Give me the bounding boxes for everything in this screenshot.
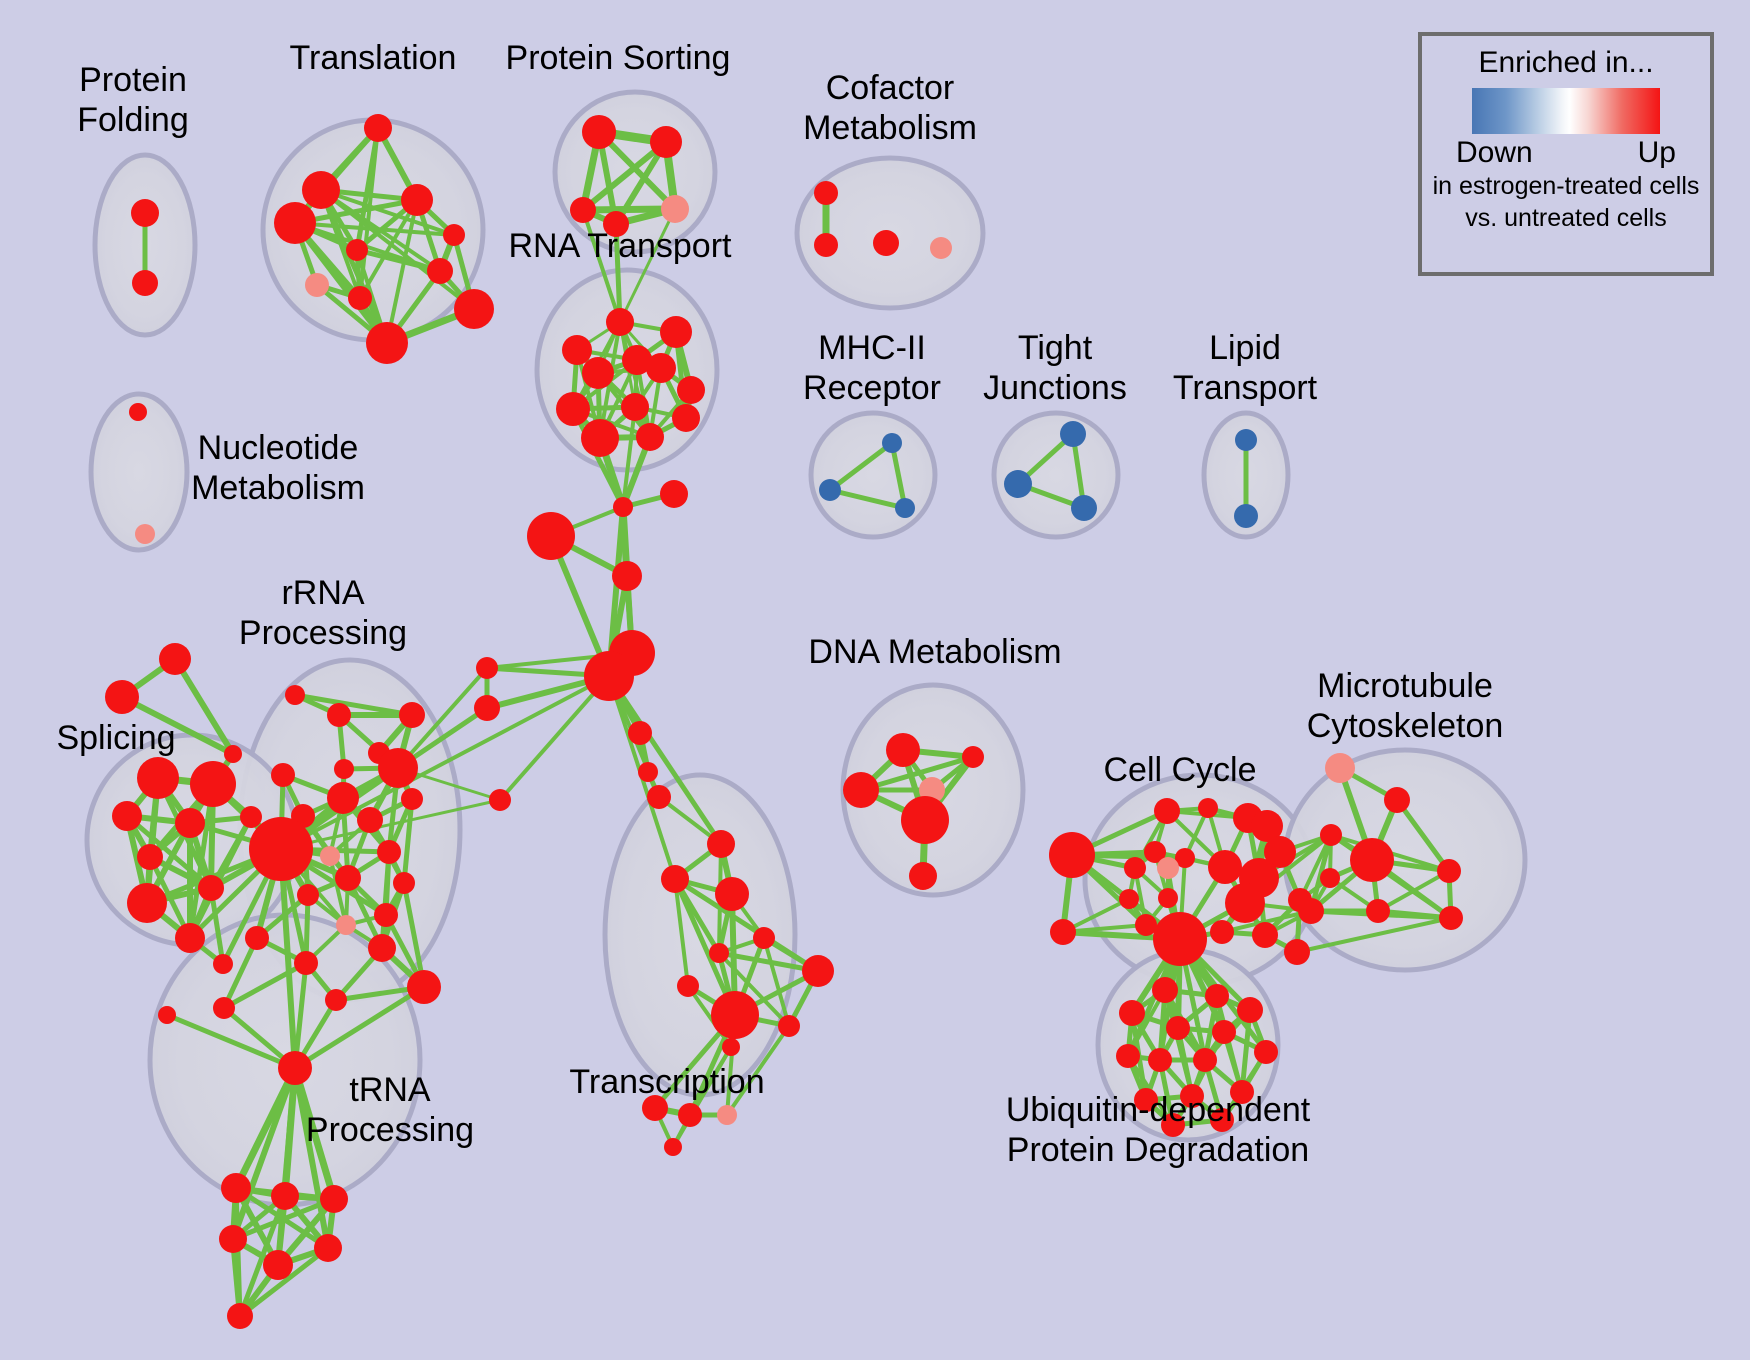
network-node[interactable]: [1119, 1000, 1145, 1026]
network-node[interactable]: [1148, 1048, 1172, 1072]
network-node[interactable]: [715, 877, 749, 911]
network-node[interactable]: [646, 353, 676, 383]
network-node[interactable]: [672, 404, 700, 432]
network-node[interactable]: [814, 181, 838, 205]
network-node[interactable]: [305, 273, 329, 297]
network-node[interactable]: [621, 393, 649, 421]
network-node[interactable]: [753, 927, 775, 949]
network-node[interactable]: [1134, 1088, 1158, 1112]
network-node[interactable]: [647, 785, 671, 809]
legend-high-label: Up: [1638, 136, 1676, 170]
network-node[interactable]: [294, 951, 318, 975]
network-node[interactable]: [1366, 899, 1390, 923]
network-node[interactable]: [374, 903, 398, 927]
network-node[interactable]: [1254, 1040, 1278, 1064]
network-node[interactable]: [240, 806, 262, 828]
network-node[interactable]: [131, 199, 159, 227]
network-node[interactable]: [650, 126, 682, 158]
network-node[interactable]: [175, 808, 205, 838]
network-node[interactable]: [325, 989, 347, 1011]
network-node[interactable]: [664, 1138, 682, 1156]
network-node[interactable]: [314, 1234, 342, 1262]
network-node[interactable]: [366, 322, 408, 364]
network-node[interactable]: [158, 1006, 176, 1024]
network-node[interactable]: [336, 915, 356, 935]
network-node[interactable]: [556, 392, 590, 426]
network-node[interactable]: [175, 923, 205, 953]
network-node[interactable]: [606, 308, 634, 336]
network-node[interactable]: [603, 211, 629, 237]
cluster-hull-mhc-ii-receptor: [811, 413, 935, 537]
network-node[interactable]: [638, 762, 658, 782]
network-node[interactable]: [407, 970, 441, 1004]
network-node[interactable]: [159, 643, 191, 675]
network-node[interactable]: [327, 703, 351, 727]
network-node[interactable]: [582, 357, 614, 389]
network-node[interactable]: [814, 233, 838, 257]
network-node[interactable]: [489, 789, 511, 811]
network-node[interactable]: [393, 872, 415, 894]
network-node[interactable]: [709, 943, 729, 963]
network-node[interactable]: [707, 830, 735, 858]
network-node[interactable]: [320, 1185, 348, 1213]
network-node[interactable]: [1116, 1044, 1140, 1068]
network-node[interactable]: [368, 934, 396, 962]
network-node[interactable]: [1153, 912, 1207, 966]
network-node[interactable]: [909, 862, 937, 890]
network-node[interactable]: [562, 335, 592, 365]
network-node[interactable]: [677, 975, 699, 997]
network-node[interactable]: [1198, 798, 1218, 818]
network-node[interactable]: [1124, 857, 1146, 879]
network-node[interactable]: [249, 817, 313, 881]
network-node[interactable]: [1350, 838, 1394, 882]
network-node[interactable]: [581, 419, 619, 457]
network-node[interactable]: [1325, 753, 1355, 783]
network-node[interactable]: [660, 480, 688, 508]
network-node[interactable]: [1193, 1048, 1217, 1072]
network-node[interactable]: [399, 702, 425, 728]
network-node[interactable]: [213, 997, 235, 1019]
network-node[interactable]: [843, 772, 879, 808]
network-node[interactable]: [245, 926, 269, 950]
network-node[interactable]: [717, 1105, 737, 1125]
network-node[interactable]: [198, 875, 224, 901]
network-node[interactable]: [263, 1250, 293, 1280]
network-node[interactable]: [1004, 470, 1032, 498]
network-node[interactable]: [661, 865, 689, 893]
network-node[interactable]: [1157, 857, 1179, 879]
network-node[interactable]: [1439, 906, 1463, 930]
network-node[interactable]: [213, 954, 233, 974]
network-node[interactable]: [335, 865, 361, 891]
network-node[interactable]: [1212, 1020, 1236, 1044]
network-node[interactable]: [1049, 832, 1095, 878]
network-node[interactable]: [613, 497, 633, 517]
network-node[interactable]: [778, 1015, 800, 1037]
network-node[interactable]: [636, 423, 664, 451]
network-node[interactable]: [819, 479, 841, 501]
network-node[interactable]: [1161, 1113, 1185, 1137]
network-node[interactable]: [570, 197, 596, 223]
network-node[interactable]: [1208, 850, 1242, 884]
network-node[interactable]: [129, 403, 147, 421]
network-node[interactable]: [962, 746, 984, 768]
network-node[interactable]: [1320, 824, 1342, 846]
network-node[interactable]: [1225, 883, 1265, 923]
network-node[interactable]: [348, 286, 372, 310]
network-node[interactable]: [137, 757, 179, 799]
network-node[interactable]: [1210, 920, 1234, 944]
network-node[interactable]: [711, 991, 759, 1039]
network-node[interactable]: [527, 512, 575, 560]
network-node[interactable]: [221, 1173, 251, 1203]
network-node[interactable]: [105, 680, 139, 714]
network-node[interactable]: [297, 884, 319, 906]
network-node[interactable]: [427, 258, 453, 284]
network-node[interactable]: [1298, 898, 1324, 924]
legend-title: Enriched in...: [1478, 46, 1653, 80]
network-node[interactable]: [454, 289, 494, 329]
network-node[interactable]: [1166, 1016, 1190, 1040]
network-node[interactable]: [137, 844, 163, 870]
network-node[interactable]: [722, 1038, 740, 1056]
network-node[interactable]: [661, 195, 689, 223]
network-node[interactable]: [628, 721, 652, 745]
network-node[interactable]: [886, 733, 920, 767]
network-node[interactable]: [930, 237, 952, 259]
network-node[interactable]: [1135, 914, 1157, 936]
network-node[interactable]: [224, 745, 242, 763]
network-node[interactable]: [377, 840, 401, 864]
network-node[interactable]: [873, 230, 899, 256]
network-node[interactable]: [327, 782, 359, 814]
network-node[interactable]: [219, 1225, 247, 1253]
legend-low-label: Down: [1456, 136, 1533, 170]
network-node[interactable]: [582, 115, 616, 149]
network-node[interactable]: [1060, 421, 1086, 447]
network-node[interactable]: [1154, 798, 1180, 824]
network-node[interactable]: [882, 433, 902, 453]
network-node[interactable]: [895, 498, 915, 518]
legend-caption-line1: in estrogen-treated cells: [1433, 170, 1700, 202]
network-node[interactable]: [1252, 922, 1278, 948]
legend-colorbar: [1472, 88, 1660, 134]
network-node[interactable]: [1284, 939, 1310, 965]
network-node[interactable]: [278, 1051, 312, 1085]
network-node[interactable]: [1384, 787, 1410, 813]
network-node[interactable]: [1234, 504, 1258, 528]
network-node[interactable]: [401, 184, 433, 216]
network-node[interactable]: [271, 1182, 299, 1210]
network-node[interactable]: [1210, 1108, 1234, 1132]
network-node[interactable]: [584, 651, 634, 701]
network-node[interactable]: [285, 685, 305, 705]
network-node[interactable]: [474, 695, 500, 721]
network-node[interactable]: [127, 883, 167, 923]
legend-panel: Enriched in... Down Up in estrogen-treat…: [1418, 32, 1714, 276]
network-node[interactable]: [132, 270, 158, 296]
network-node[interactable]: [1071, 495, 1097, 521]
network-node[interactable]: [1437, 859, 1461, 883]
network-node[interactable]: [1237, 997, 1263, 1023]
network-node[interactable]: [1119, 889, 1139, 909]
network-node[interactable]: [364, 114, 392, 142]
legend-caption-line2: vs. untreated cells: [1465, 202, 1667, 234]
network-node[interactable]: [334, 759, 354, 779]
network-node[interactable]: [401, 788, 423, 810]
legend-endpoints: Down Up: [1456, 136, 1676, 170]
network-node[interactable]: [190, 761, 236, 807]
network-node[interactable]: [302, 171, 340, 209]
network-node[interactable]: [1152, 977, 1178, 1003]
network-node[interactable]: [135, 524, 155, 544]
network-node[interactable]: [476, 657, 498, 679]
network-node[interactable]: [660, 316, 692, 348]
network-node[interactable]: [346, 239, 368, 261]
network-node[interactable]: [227, 1303, 253, 1329]
network-node[interactable]: [802, 955, 834, 987]
network-node[interactable]: [443, 224, 465, 246]
network-node[interactable]: [678, 1103, 702, 1127]
network-node[interactable]: [271, 763, 295, 787]
network-node[interactable]: [1230, 1080, 1254, 1104]
network-node[interactable]: [1050, 919, 1076, 945]
network-node[interactable]: [357, 807, 383, 833]
network-node[interactable]: [642, 1095, 668, 1121]
network-node[interactable]: [612, 561, 642, 591]
network-node[interactable]: [1205, 984, 1229, 1008]
network-node[interactable]: [320, 846, 340, 866]
network-node[interactable]: [1180, 1084, 1204, 1108]
network-node[interactable]: [677, 376, 705, 404]
network-node[interactable]: [901, 796, 949, 844]
network-node[interactable]: [378, 748, 418, 788]
network-node[interactable]: [112, 801, 142, 831]
network-node[interactable]: [1320, 868, 1340, 888]
network-node[interactable]: [1158, 888, 1178, 908]
network-node[interactable]: [274, 202, 316, 244]
network-node[interactable]: [1235, 429, 1257, 451]
